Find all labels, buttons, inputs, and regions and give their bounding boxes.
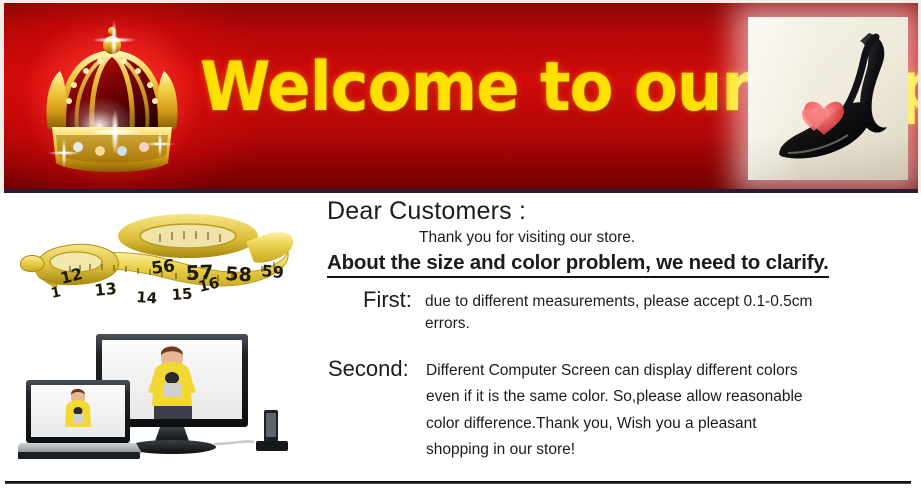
bottom-divider xyxy=(5,481,911,484)
tape-number: 13 xyxy=(93,279,117,300)
clarify-heading: About the size and color problem, we nee… xyxy=(327,251,829,278)
tape-measure-icon: 1 12 13 14 15 16 56 57 58 59 xyxy=(10,208,310,318)
tape-number: 59 xyxy=(261,261,285,282)
size-color-notice: Dear Customers : Thank you for visiting … xyxy=(327,198,913,466)
tape-number: 57 xyxy=(185,260,214,285)
notice-line: color difference.Thank you, Wish you a p… xyxy=(426,413,803,435)
tape-number: 14 xyxy=(136,288,158,307)
welcome-banner: Welcome to our shop ! xyxy=(0,0,921,193)
tape-number: 58 xyxy=(225,263,253,286)
screens-svg xyxy=(18,328,308,468)
greeting-heading: Dear Customers : xyxy=(327,198,913,225)
sparkle-icon xyxy=(84,13,144,67)
notice-line: shopping in our store! xyxy=(426,439,803,461)
notice-line: even if it is the same color. So,please … xyxy=(426,386,803,408)
notice-item-body: Different Computer Screen can display di… xyxy=(426,356,803,466)
page-title: Welcome to our shop ! xyxy=(200,47,698,129)
sparkle-icon xyxy=(42,133,86,173)
notice-item-label: First: xyxy=(363,287,425,312)
crown-icon xyxy=(22,9,202,187)
notice-line: Different Computer Screen can display di… xyxy=(426,360,803,382)
tape-number: 15 xyxy=(171,285,193,304)
notice-line: due to different measurements, please ac… xyxy=(425,291,812,313)
notice-item-label: Second: xyxy=(328,356,426,381)
tape-measure-svg: 1 12 13 14 15 16 56 57 58 59 xyxy=(10,208,310,318)
banner-background: Welcome to our shop ! xyxy=(4,3,918,193)
shoe-icon-svg xyxy=(748,17,908,180)
page-root: Welcome to our shop ! xyxy=(0,0,921,493)
high-heel-shoe-with-heart-icon xyxy=(748,17,908,180)
notice-item-first: First: due to different measurements, pl… xyxy=(327,287,913,336)
tape-number: 56 xyxy=(150,256,176,279)
notice-item-body: due to different measurements, please ac… xyxy=(425,287,812,336)
sparkle-icon xyxy=(140,125,180,163)
tape-number: 1 xyxy=(50,284,63,302)
thanks-line: Thank you for visiting our store. xyxy=(419,229,913,247)
notice-line: errors. xyxy=(425,313,812,335)
monitor-laptop-phone-icon xyxy=(18,328,308,468)
notice-item-second: Second: Different Computer Screen can di… xyxy=(327,356,913,466)
